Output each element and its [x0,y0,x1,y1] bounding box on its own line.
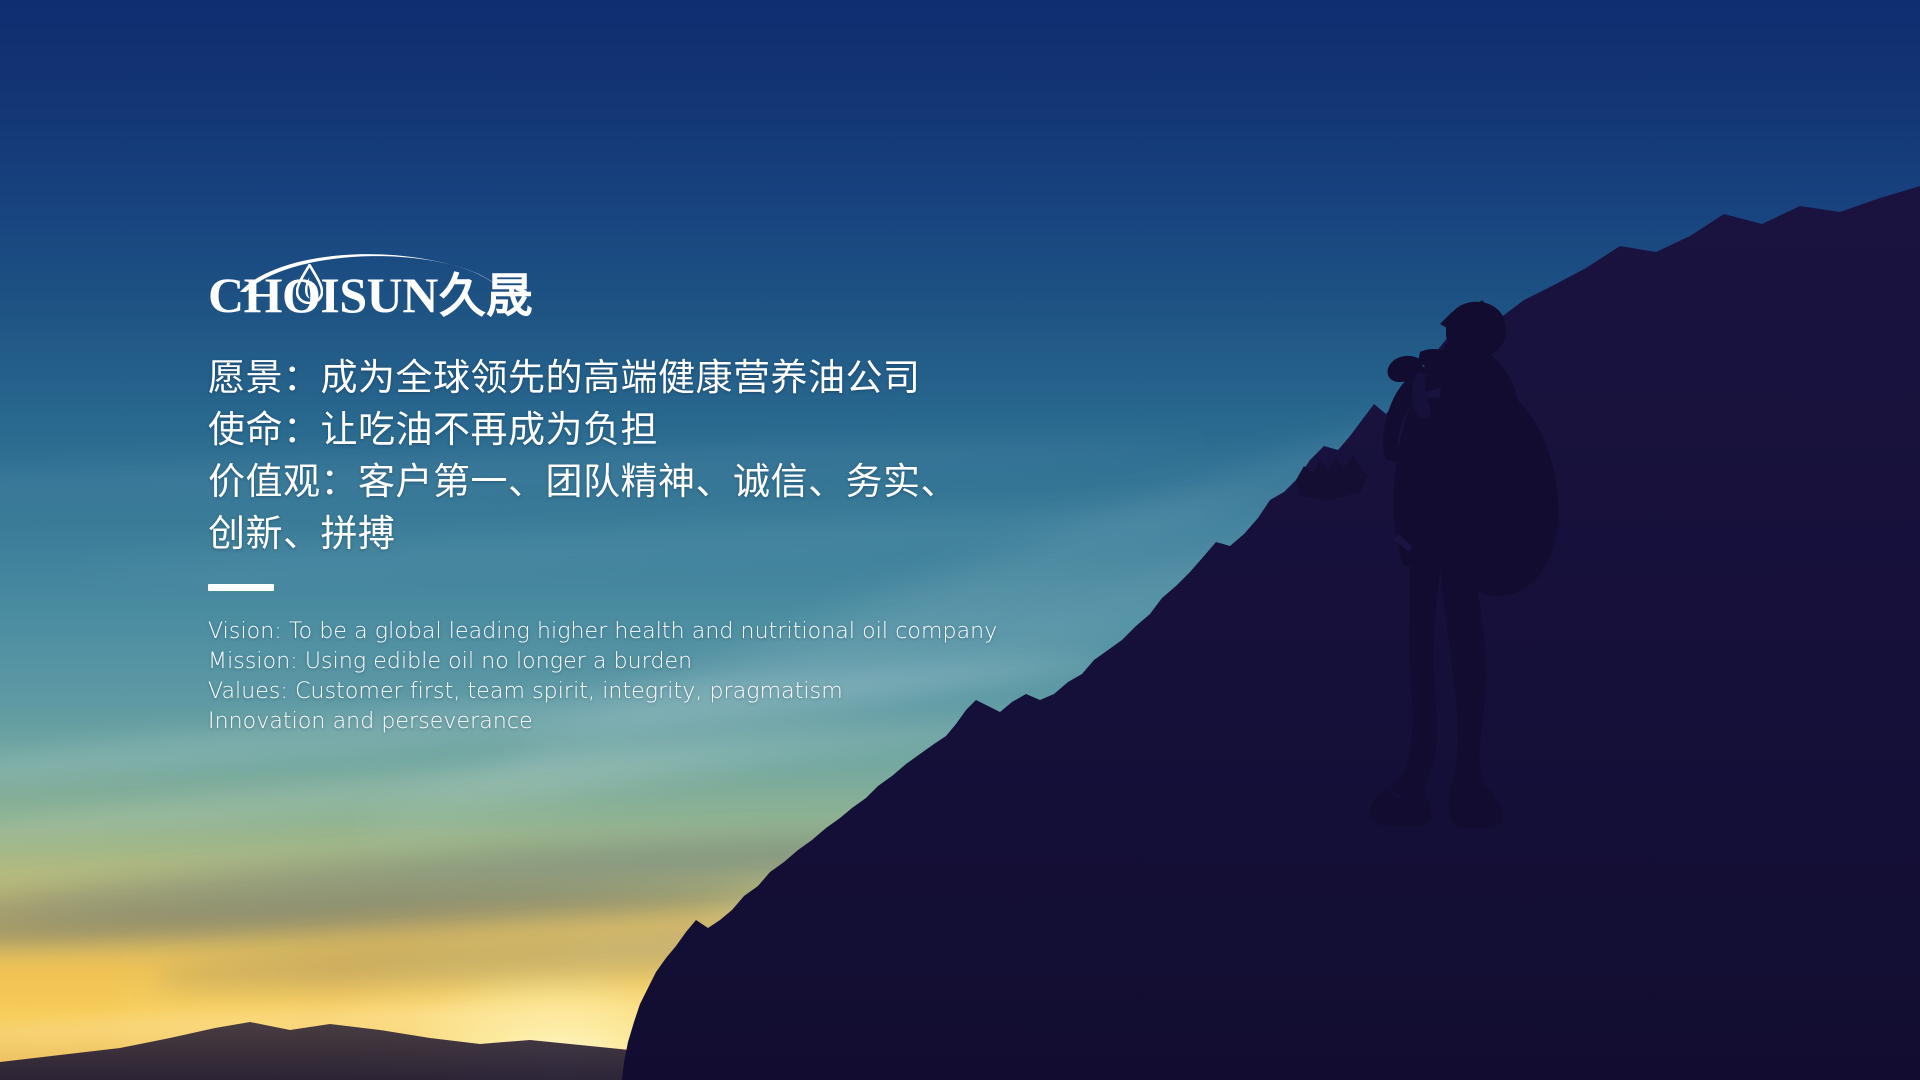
section-divider [208,584,274,591]
vision-line-cn: 愿景：成为全球领先的高端健康营养油公司 [208,352,1308,404]
brand-chinese-name: 久晟 [439,274,533,321]
brand-wordmark: CHOISUN 久晟 [208,270,533,321]
values-line-en-continued: Innovation and perseverance [208,707,1308,737]
content-block: CHOISUN 久晟 愿景：成为全球领先的高端健康营养油公司 使命：让吃油不再成… [208,248,1308,737]
mission-line-cn: 使命：让吃油不再成为负担 [208,404,1308,456]
mission-statements-english: Vision: To be a global leading higher he… [208,617,1308,737]
mission-line-en: Mission: Using edible oil no longer a bu… [208,647,1308,677]
mission-statements-chinese: 愿景：成为全球领先的高端健康营养油公司 使命：让吃油不再成为负担 价值观：客户第… [208,352,1308,560]
oil-droplet-icon [296,264,323,304]
values-line-en: Values: Customer first, team spirit, int… [208,677,1308,707]
values-line-cn: 价值观：客户第一、团队精神、诚信、务实、 [208,456,1308,508]
slide-canvas: CHOISUN 久晟 愿景：成为全球领先的高端健康营养油公司 使命：让吃油不再成… [0,0,1920,1080]
vision-line-en: Vision: To be a global leading higher he… [208,617,1308,647]
values-line-cn-continued: 创新、拼搏 [208,508,1308,560]
brand-logo[interactable]: CHOISUN 久晟 [208,248,548,326]
